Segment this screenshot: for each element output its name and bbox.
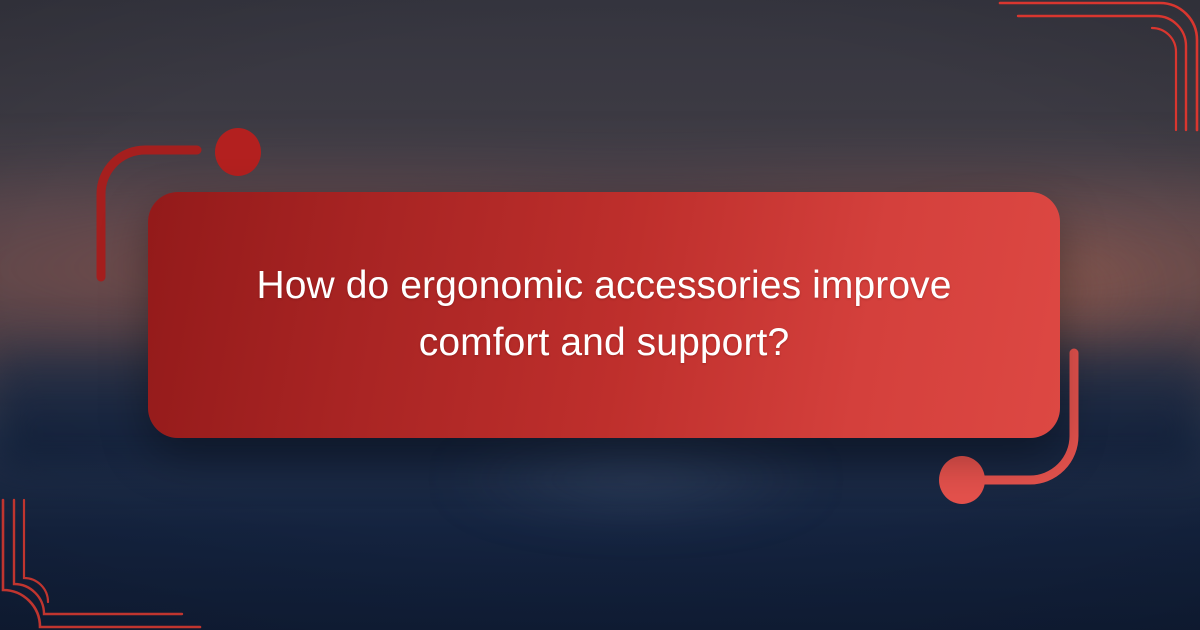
accent-dot-top-left xyxy=(215,128,261,176)
quote-card: How do ergonomic accessories improve com… xyxy=(148,192,1060,438)
corner-lines-bottom-left xyxy=(0,500,200,630)
page-title: How do ergonomic accessories improve com… xyxy=(209,258,999,371)
accent-dot-bottom-right xyxy=(939,456,985,504)
corner-lines-top-right xyxy=(1000,0,1200,130)
social-card-canvas: How do ergonomic accessories improve com… xyxy=(0,0,1200,630)
